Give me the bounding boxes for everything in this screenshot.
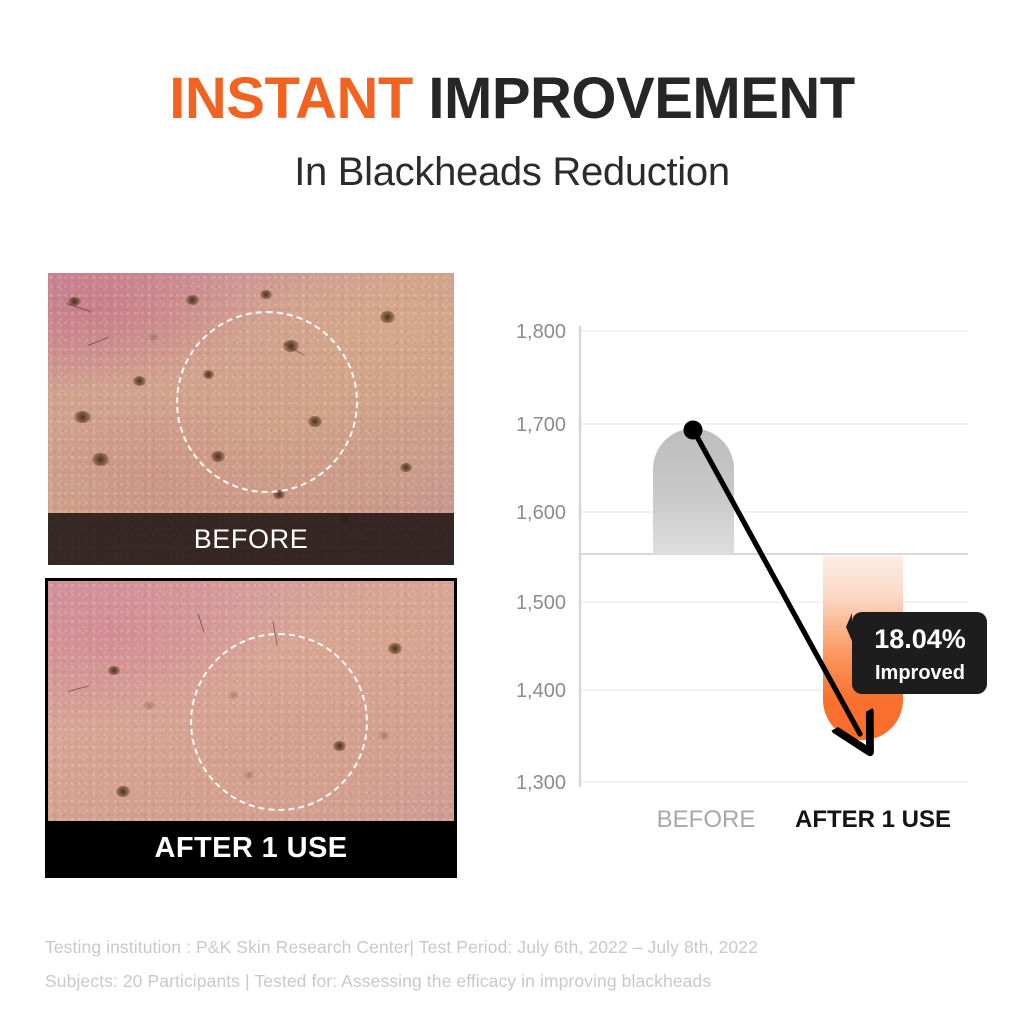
after-caption-band: AFTER 1 USE: [48, 821, 454, 875]
gridlines: [580, 331, 968, 782]
footer-line-1: Testing institution : P&K Skin Research …: [45, 930, 985, 964]
before-caption-label: BEFORE: [194, 524, 309, 555]
bar-before: [653, 429, 734, 555]
improvement-badge: 18.04% Improved: [846, 612, 987, 694]
pore: [260, 290, 272, 299]
footer-disclaimer: Testing institution : P&K Skin Research …: [45, 930, 985, 998]
y-tick-label: 1,500: [516, 592, 566, 614]
after-photo-card: AFTER 1 USE: [45, 578, 457, 878]
y-tick-labels: 1,800 1,700 1,600 1,500 1,400 1,300: [516, 321, 566, 794]
page-subtitle: In Blackheads Reduction: [0, 150, 1024, 195]
badge-label: Improved: [875, 662, 965, 684]
dashed-circle-marker-before: [176, 311, 358, 493]
pore: [148, 333, 159, 341]
data-point-before: [684, 421, 703, 440]
y-tick-label: 1,300: [516, 772, 566, 794]
pore: [143, 701, 155, 710]
y-tick-label: 1,400: [516, 680, 566, 702]
y-tick-label: 1,700: [516, 414, 566, 436]
before-caption-band: BEFORE: [48, 513, 454, 565]
pore: [388, 643, 402, 654]
pore: [378, 731, 390, 740]
bar-chart: 1,800 1,700 1,600 1,500 1,400 1,300 18.0…: [480, 300, 1000, 845]
pore: [400, 463, 412, 472]
page-title: INSTANT IMPROVEMENT: [0, 70, 1024, 128]
before-photo-card: BEFORE: [48, 273, 454, 565]
pore: [92, 453, 109, 466]
footer-line-2: Subjects: 20 Participants | Tested for: …: [45, 964, 985, 998]
y-tick-label: 1,600: [516, 502, 566, 524]
pore: [74, 411, 91, 423]
x-label-after: AFTER 1 USE: [795, 806, 951, 833]
pore: [108, 666, 120, 675]
header: INSTANT IMPROVEMENT In Blackheads Reduct…: [0, 0, 1024, 195]
pore: [186, 295, 199, 305]
x-label-before: BEFORE: [657, 806, 756, 833]
pore: [380, 311, 395, 323]
y-tick-label: 1,800: [516, 321, 566, 343]
page-title-accent: INSTANT: [169, 66, 413, 131]
pore: [133, 376, 146, 386]
pore: [116, 786, 130, 797]
dashed-circle-marker-after: [190, 633, 368, 811]
after-caption-label: AFTER 1 USE: [155, 832, 348, 865]
badge-value: 18.04%: [874, 624, 966, 654]
page-title-rest: IMPROVEMENT: [428, 66, 854, 131]
